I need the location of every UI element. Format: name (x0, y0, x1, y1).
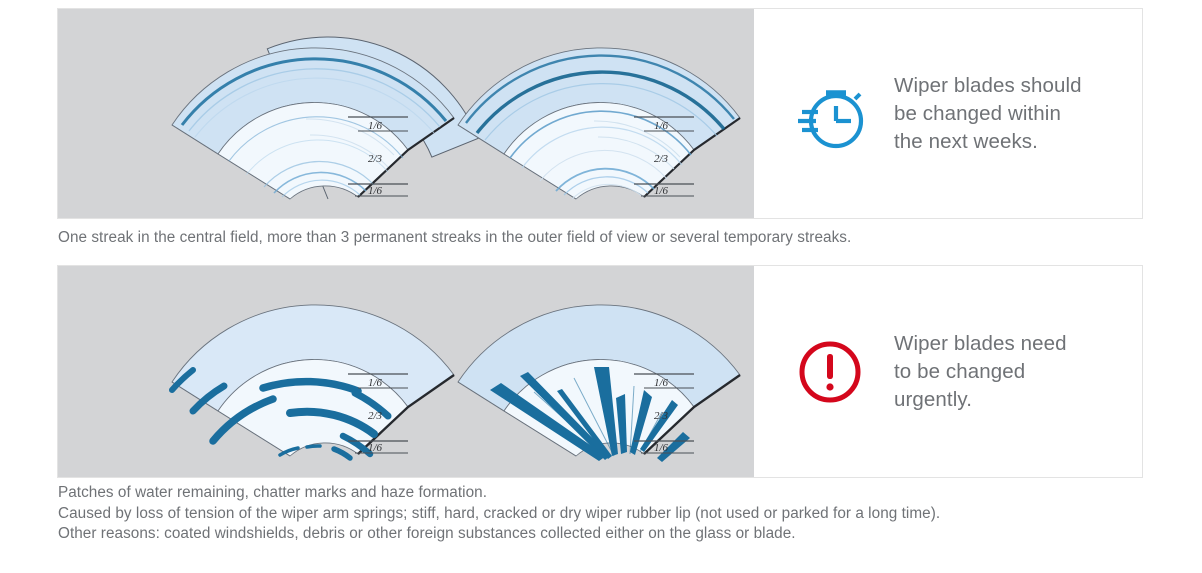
fan-right-group: 1/6 2/3 1/6 (458, 48, 740, 199)
wiper-sweep-diagrams-urgent: 1/6 2/3 1/6 (58, 266, 754, 477)
fan-left-group-urgent: 1/6 2/3 1/6 (172, 305, 454, 458)
zone-label-bottom: 1/6 (654, 185, 669, 197)
wiper-blade-condition-chart: 1/6 2/3 1/6 (0, 0, 1202, 573)
zone-label-top: 1/6 (368, 377, 383, 389)
caption-urgent: Patches of water remaining, chatter mark… (58, 483, 940, 545)
zone-label-bottom: 1/6 (368, 442, 383, 454)
message-area-urgent: Wiper blades need to be changed urgently… (754, 266, 1142, 477)
stopwatch-icon (792, 76, 868, 152)
zone-label-top: 1/6 (654, 377, 669, 389)
message-area-moderate: Wiper blades should be changed within th… (754, 9, 1142, 218)
zone-label-middle: 2/3 (368, 153, 383, 165)
caption-moderate: One streak in the central field, more th… (58, 228, 851, 249)
wiper-sweep-diagrams-moderate: 1/6 2/3 1/6 (58, 9, 754, 218)
zone-label-middle: 2/3 (368, 410, 383, 422)
fan-right-group-urgent: 1/6 2/3 1/6 (458, 305, 740, 462)
figure-area-urgent: 1/6 2/3 1/6 (58, 266, 754, 477)
zone-label-middle: 2/3 (654, 410, 669, 422)
figure-area-moderate: 1/6 2/3 1/6 (58, 9, 754, 218)
zone-label-bottom: 1/6 (654, 442, 669, 454)
zone-label-top: 1/6 (368, 120, 383, 132)
condition-panel-urgent: 1/6 2/3 1/6 (57, 265, 1143, 478)
condition-panel-moderate: 1/6 2/3 1/6 (57, 8, 1143, 219)
zone-label-middle: 2/3 (654, 153, 669, 165)
zone-label-top: 1/6 (654, 120, 669, 132)
exclamation-circle-icon (792, 334, 868, 410)
message-text-urgent: Wiper blades need to be changed urgently… (894, 330, 1067, 414)
message-text-moderate: Wiper blades should be changed within th… (894, 72, 1082, 156)
zone-label-bottom: 1/6 (368, 185, 383, 197)
